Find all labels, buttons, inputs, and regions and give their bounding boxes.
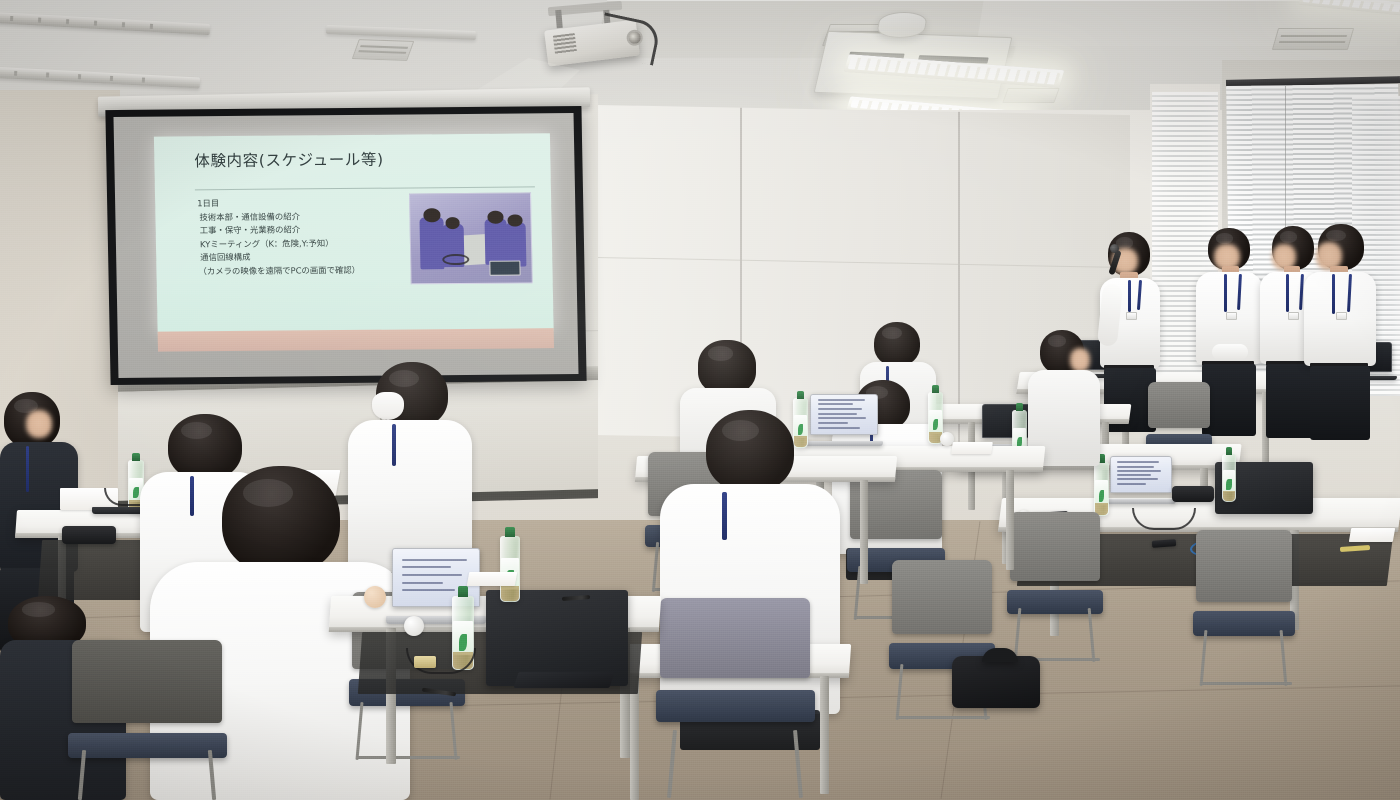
paper-sheet: [467, 572, 517, 586]
lanyard: [392, 424, 396, 466]
paper-sheet: [951, 442, 993, 454]
chair-leg: [1088, 608, 1096, 662]
chair-leg: [1200, 630, 1208, 686]
small-round-object: [364, 586, 386, 608]
chair-foreground-left: [72, 640, 222, 800]
id-badge: [1126, 312, 1137, 320]
paper-sheet: [1349, 528, 1395, 542]
slide-title: 体験内容(スケジュール等): [194, 148, 384, 172]
photo-worker: [485, 219, 508, 266]
chair-right-1: [1010, 512, 1100, 662]
small-round-object: [404, 616, 424, 636]
face-blurred: [1070, 348, 1090, 372]
photo-worker-head: [445, 217, 460, 229]
presentation-slide: 体験内容(スケジュール等) 1日目 技術本部・通信設備の紹介 工事・保守・光業務…: [154, 133, 553, 335]
backpack-on-floor: [952, 656, 1040, 708]
desk-leg: [1006, 470, 1014, 570]
lanyard: [26, 446, 29, 492]
chair-right-2: [1196, 530, 1292, 686]
tea-bottle: [1094, 462, 1109, 516]
face-blurred: [26, 410, 52, 438]
photo-worker: [420, 217, 445, 269]
chair-leg: [355, 702, 363, 760]
photo-worker-head: [508, 215, 523, 227]
chair-seat: [656, 690, 815, 722]
bag-strap: [982, 648, 1018, 662]
head: [222, 466, 340, 574]
chair-rail: [1200, 682, 1292, 685]
chair-rail: [896, 716, 990, 719]
lanyard: [1332, 274, 1335, 314]
slide-bottom-band: [158, 329, 554, 352]
projection-screen: 体験内容(スケジュール等) 1日目 技術本部・通信設備の紹介 工事・保守・光業務…: [105, 106, 586, 385]
microphone-head: [1110, 244, 1119, 253]
ceiling-vent: [352, 39, 415, 61]
adapter: [414, 656, 436, 668]
slide-title-rule: [195, 186, 535, 190]
face-mask: [372, 392, 404, 420]
chair-rail: [356, 756, 460, 759]
chair-leg: [793, 730, 803, 798]
screen-canvas: 体験内容(スケジュール等) 1日目 技術本部・通信設備の紹介 工事・保守・光業務…: [113, 113, 578, 378]
chair-backrest: [1148, 382, 1210, 428]
lanyard: [1128, 280, 1131, 312]
slide-line-5: （カメラの映像を遠隔でPCの画面で確認）: [198, 263, 444, 279]
chair-leg: [1280, 630, 1288, 686]
desk-leg: [820, 676, 829, 794]
chair-backrest: [1010, 512, 1100, 581]
chair-backrest: [72, 640, 222, 723]
standing-student-4: [1302, 224, 1382, 440]
classroom-photo-scene: 体験内容(スケジュール等) 1日目 技術本部・通信設備の紹介 工事・保守・光業務…: [0, 0, 1400, 800]
lanyard: [722, 492, 727, 540]
trousers: [1202, 364, 1256, 436]
ceiling-vent: [1002, 88, 1059, 103]
laptop-right-front: [1110, 456, 1172, 504]
laptop-base: [1106, 499, 1177, 504]
laptop-screen: [1110, 456, 1172, 493]
slide-body: 1日目 技術本部・通信設備の紹介 工事・保守・光業務の紹介 KYミーティング（K…: [197, 195, 444, 279]
slide-embedded-photo: [409, 192, 533, 284]
chair-backrest: [1196, 530, 1292, 602]
projector-vent: [553, 33, 577, 55]
photo-monitor: [489, 260, 521, 275]
lanyard: [1286, 274, 1289, 312]
arm-clasped: [1212, 344, 1248, 360]
chair-leg: [896, 664, 904, 720]
black-pouch: [62, 526, 116, 544]
lanyard: [1224, 274, 1227, 312]
tea-bottle: [1222, 454, 1236, 502]
tea-bottle: [500, 536, 520, 602]
id-badge: [1226, 312, 1237, 320]
trousers: [1310, 366, 1370, 440]
chair-leg: [667, 730, 677, 798]
head: [698, 340, 756, 394]
chair-leg: [449, 702, 457, 760]
photo-worker-head: [487, 211, 503, 224]
chair-seat: [68, 733, 227, 759]
ceiling-vent: [1272, 28, 1354, 50]
id-badge: [1288, 312, 1299, 320]
photo-worker-head: [423, 209, 440, 223]
chair-backrest: [660, 598, 810, 678]
chair-backrest: [892, 560, 992, 634]
desk-leg: [630, 676, 639, 800]
desk-leg: [860, 480, 868, 584]
head: [706, 410, 794, 492]
chair-front-center: [660, 598, 810, 798]
pencil-pouch: [1172, 486, 1214, 502]
tablet-stand: [513, 672, 614, 688]
chair-leg: [652, 542, 659, 592]
id-badge: [1336, 312, 1347, 320]
head: [874, 322, 920, 366]
